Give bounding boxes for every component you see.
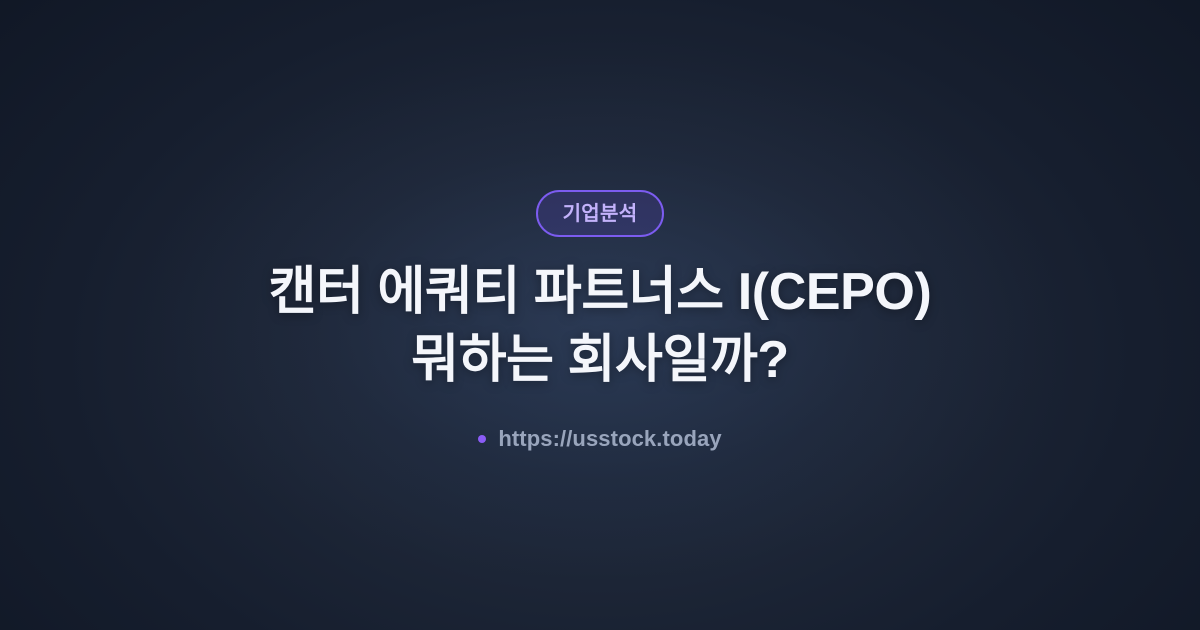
- page-title-line-1: 캔터 에쿼티 파트너스 I(CEPO): [100, 259, 1100, 327]
- og-share-card: 기업분석 캔터 에쿼티 파트너스 I(CEPO) 뭐하는 회사일까? https…: [0, 0, 1200, 630]
- bullet-dot-icon: [478, 435, 486, 443]
- site-url-row: https://usstock.today: [478, 428, 721, 450]
- page-title-line-2: 뭐하는 회사일까?: [100, 327, 1100, 395]
- page-title: 캔터 에쿼티 파트너스 I(CEPO) 뭐하는 회사일까?: [100, 259, 1100, 394]
- card-content: 기업분석 캔터 에쿼티 파트너스 I(CEPO) 뭐하는 회사일까? https…: [0, 0, 1200, 450]
- category-badge: 기업분석: [536, 190, 665, 237]
- site-url-label: https://usstock.today: [498, 428, 721, 450]
